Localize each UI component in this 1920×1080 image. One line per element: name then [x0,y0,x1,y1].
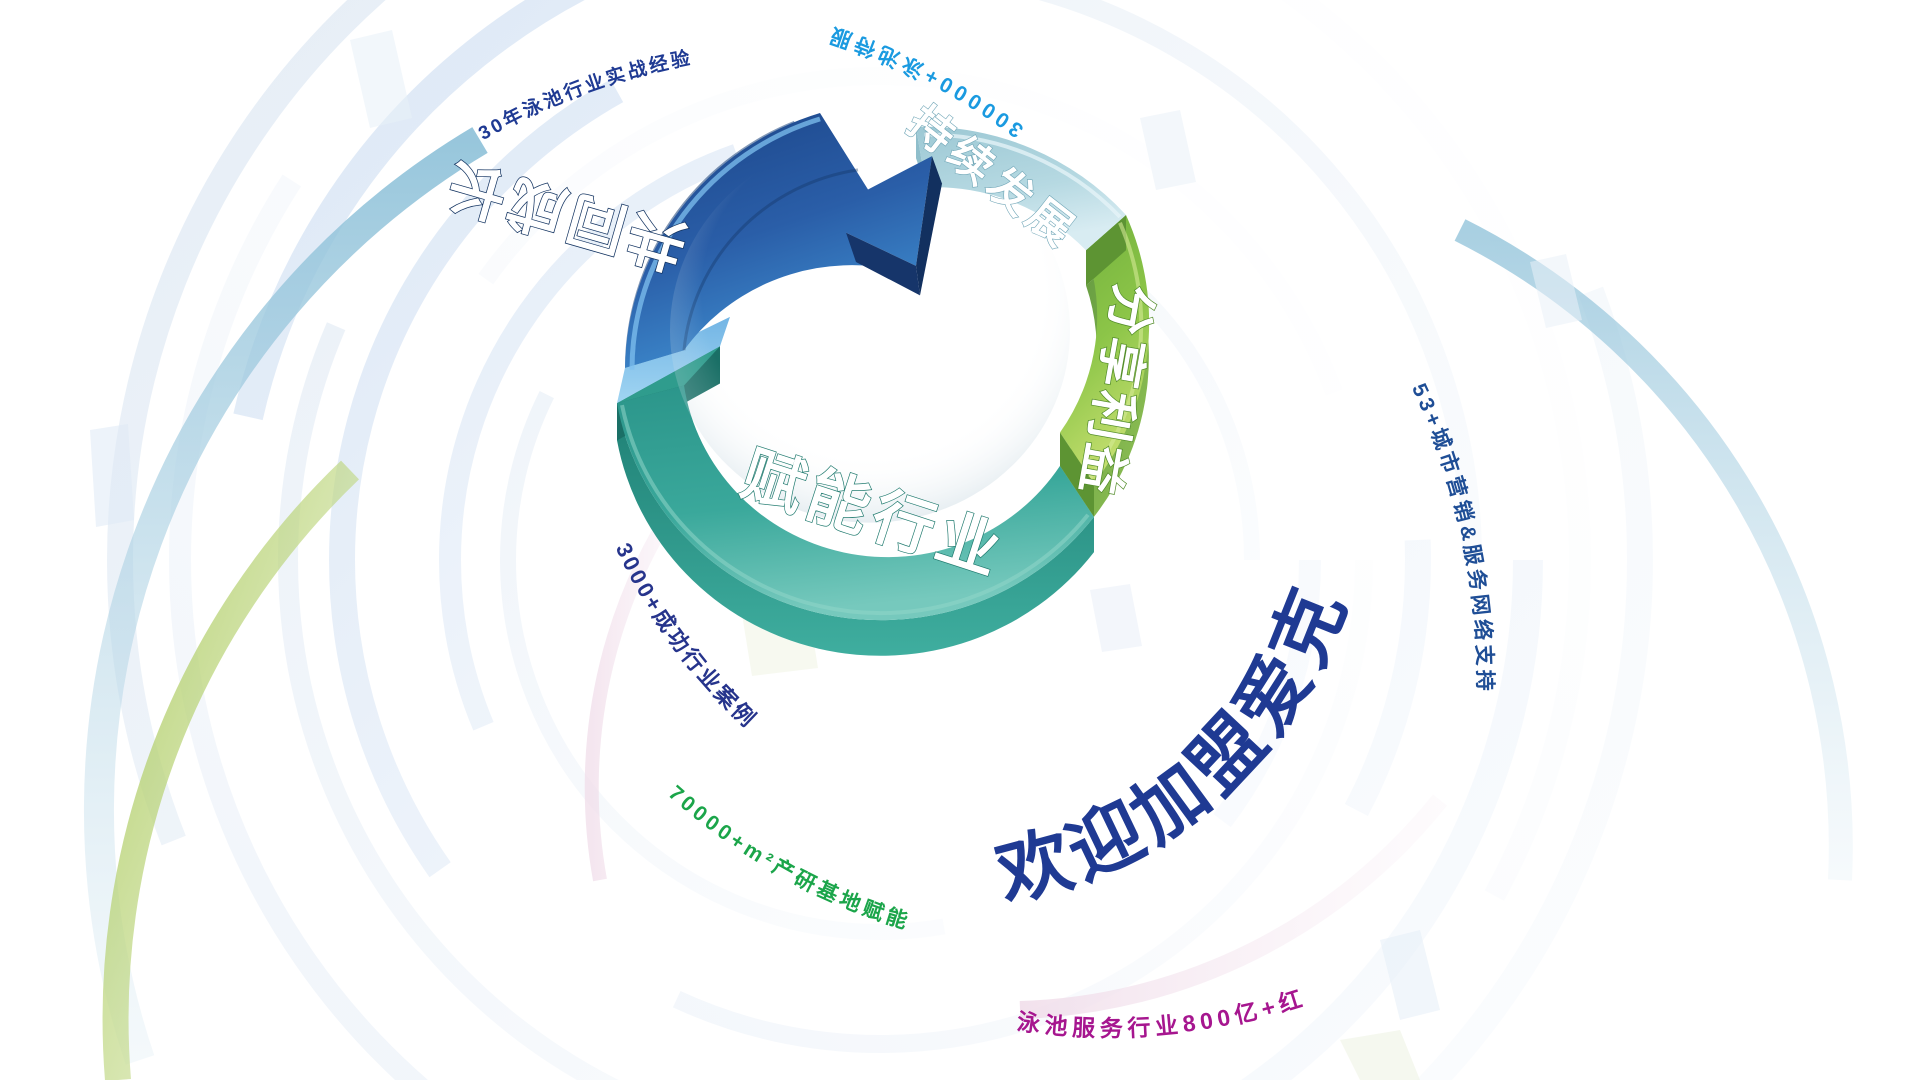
label-cases: 3000+成功行业案例 [611,539,762,733]
label-base: 70000+m²产研基地赋能 [664,781,914,934]
page-title: 欢迎加盟爱克生态 [0,0,1363,917]
infographic-canvas: 共同成长 持续发展 分享利益 赋能行业 30年泳池行业实战经验 300000+泳… [0,0,1920,1080]
orbit-text-labels: 30年泳池行业实战经验 300000+泳池待服务 53+城市营销&服务网络支持 … [0,0,1920,1080]
label-experience: 30年泳池行业实战经验 [475,46,694,145]
label-cities: 53+城市营销&服务网络支持 [1407,380,1497,695]
label-market: 泳池服务行业800亿+红利 [0,0,1310,1041]
